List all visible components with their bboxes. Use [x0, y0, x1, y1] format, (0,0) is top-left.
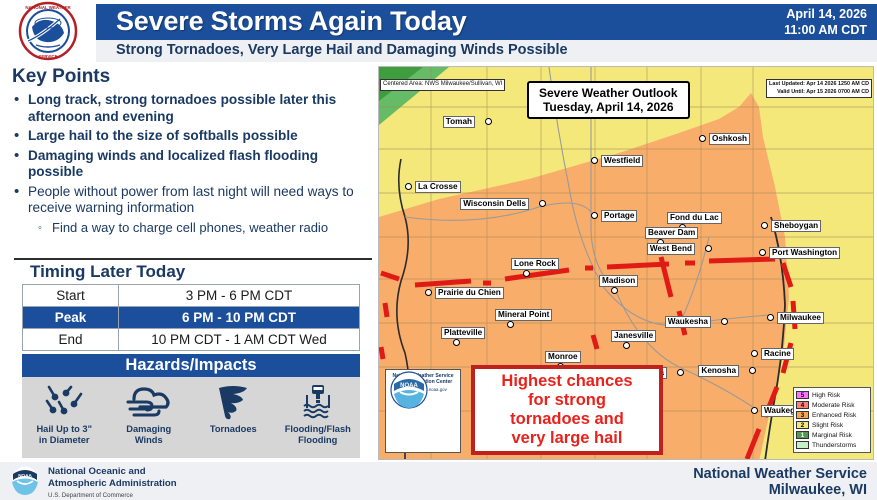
- city-label: Mineral Point: [495, 309, 552, 321]
- noaa-line2: Atmospheric Administration: [48, 478, 177, 490]
- map-update-info: Last Updated: Apr 14 2026 1250 AM CD Val…: [766, 79, 872, 98]
- city-dot-icon: [453, 339, 460, 346]
- hazard-caption-line1: Flooding/Flash: [276, 424, 360, 435]
- table-row: End 10 PM CDT - 1 AM CDT Wed: [23, 329, 360, 351]
- hazard-caption: Tornadoes: [191, 424, 275, 435]
- hazard-caption-line1: Hail Up to 3": [22, 424, 106, 435]
- header-date: April 14, 2026: [784, 6, 867, 22]
- map-last-updated: Last Updated: Apr 14 2026 1250 AM CD: [769, 81, 869, 89]
- list-item: • Damaging winds and localized flash flo…: [14, 148, 374, 181]
- hazard-item-flooding: Flooding/Flash Flooding: [276, 382, 360, 446]
- hazard-caption-line1: Tornadoes: [191, 424, 275, 435]
- legend-swatch: 3: [796, 411, 809, 420]
- legend-row: Thunderstorms: [796, 440, 868, 450]
- weather-briefing-graphic: Severe Storms Again Today April 14, 2026…: [0, 0, 877, 500]
- severe-weather-outlook-map[interactable]: Centered Area: NWS Milwaukee/Sullivan, W…: [378, 66, 874, 460]
- legend-swatch: 4: [796, 401, 809, 410]
- bullet-circle-icon: ◦: [38, 220, 52, 237]
- hazard-caption: Flooding/Flash Flooding: [276, 424, 360, 446]
- city-label: La Crosse: [415, 181, 461, 193]
- city-label: Waukesha: [665, 316, 711, 328]
- page-subtitle: Strong Tornadoes, Very Large Hail and Da…: [116, 42, 568, 58]
- map-title: Severe Weather Outlook Tuesday, April 14…: [527, 81, 690, 119]
- wind-icon: [107, 382, 191, 422]
- city-dot-icon: [677, 369, 684, 376]
- city-label: Madison: [599, 275, 638, 287]
- list-item-text: Long track, strong tornadoes possible la…: [28, 92, 374, 125]
- hazards-list: Hail Up to 3" in Diameter D: [22, 377, 360, 458]
- city-label: Kenosha: [698, 365, 739, 377]
- noaa-logo: NOAA: [8, 466, 42, 497]
- noaa-attribution: National Oceanic and Atmospheric Adminis…: [48, 466, 177, 500]
- legend-swatch: 5: [796, 391, 809, 400]
- list-item-text: Large hail to the size of softballs poss…: [28, 128, 374, 145]
- table-row: Start 3 PM - 6 PM CDT: [23, 285, 360, 307]
- legend-swatch: [796, 441, 809, 450]
- hazard-item-hail: Hail Up to 3" in Diameter: [22, 382, 106, 446]
- city-label: Port Washington: [769, 247, 840, 259]
- city-dot-icon: [751, 407, 758, 414]
- city-label: Sheboygan: [771, 220, 821, 232]
- header-datetime: April 14, 2026 11:00 AM CDT: [784, 6, 867, 38]
- legend-row: 2 Slight Risk: [796, 420, 868, 430]
- header-time: 11:00 AM CDT: [784, 22, 867, 38]
- city-label: Portage: [601, 210, 637, 222]
- city-dot-icon: [591, 157, 598, 164]
- map-title-line2: Tuesday, April 14, 2026: [539, 100, 678, 114]
- map-valid-until: Valid Until: Apr 15 2026 0700 AM CD: [769, 89, 869, 97]
- city-dot-icon: [767, 314, 774, 321]
- legend-label: Enhanced Risk: [812, 412, 856, 419]
- city-dot-icon: [705, 245, 712, 252]
- map-callout-text: Highest chances for strong tornadoes and…: [501, 372, 632, 448]
- hazard-caption-line2: Flooding: [276, 435, 360, 446]
- city-dot-icon: [539, 200, 546, 207]
- nws-office-line2: Milwaukee, WI: [693, 482, 867, 498]
- city-label: Prairie du Chien: [435, 287, 504, 299]
- city-dot-icon: [759, 249, 766, 256]
- bullet-dot-icon: •: [14, 128, 28, 145]
- list-item-sub: ◦ Find a way to charge cell phones, weat…: [38, 220, 374, 237]
- city-label: Tomah: [443, 116, 475, 128]
- city-label: Platteville: [441, 327, 485, 339]
- city-dot-icon: [699, 135, 706, 142]
- legend-swatch: 1: [796, 431, 809, 440]
- city-label: Beaver Dam: [645, 227, 698, 239]
- tornado-icon: [191, 382, 275, 422]
- divider: [14, 258, 372, 260]
- legend-label: Moderate Risk: [812, 402, 855, 409]
- timing-label: End: [23, 329, 119, 351]
- header: Severe Storms Again Today April 14, 2026…: [0, 0, 877, 62]
- city-label: Oshkosh: [709, 133, 750, 145]
- city-label: Fond du Lac: [667, 212, 722, 224]
- legend-label: Thunderstorms: [812, 442, 856, 449]
- hazard-item-wind: Damaging Winds: [107, 382, 191, 446]
- list-item-text: Find a way to charge cell phones, weathe…: [52, 220, 374, 237]
- city-label: Wisconsin Dells: [460, 198, 529, 210]
- city-label: Racine: [761, 348, 794, 360]
- legend-label: Slight Risk: [812, 422, 843, 429]
- city-dot-icon: [507, 321, 514, 328]
- svg-text:NOAA: NOAA: [18, 473, 32, 478]
- nws-office-attribution: National Weather Service Milwaukee, WI: [693, 466, 867, 498]
- city-dot-icon: [749, 367, 756, 374]
- svg-text:SERVICE: SERVICE: [38, 54, 57, 59]
- table-row: Peak 6 PM - 10 PM CDT: [23, 307, 360, 329]
- bullet-dot-icon: •: [14, 92, 28, 125]
- noaa-logo-icon: NOAA: [386, 370, 432, 414]
- hazard-caption-line2: Winds: [107, 435, 191, 446]
- header-bar: Severe Storms Again Today April 14, 2026…: [96, 4, 877, 40]
- subtitle-bar: Strong Tornadoes, Very Large Hail and Da…: [96, 40, 877, 62]
- hazards-impacts-section: Hazards/Impacts: [22, 354, 360, 458]
- city-dot-icon: [485, 118, 492, 125]
- nws-office-line1: National Weather Service: [693, 466, 867, 482]
- key-points-list: • Long track, strong tornadoes possible …: [14, 92, 374, 239]
- city-dot-icon: [751, 350, 758, 357]
- callout-line-1: Highest chances: [501, 372, 632, 391]
- noaa-department-line: U.S. Department of Commerce: [48, 490, 177, 500]
- list-item-text: People without power from last night wil…: [28, 184, 374, 217]
- list-item: • People without power from last night w…: [14, 184, 374, 217]
- callout-line-3: tornadoes and: [501, 410, 632, 429]
- list-item: • Large hail to the size of softballs po…: [14, 128, 374, 145]
- legend-row: 3 Enhanced Risk: [796, 410, 868, 420]
- timing-title: Timing Later Today: [30, 262, 185, 282]
- hazard-item-tornado: Tornadoes: [191, 382, 275, 435]
- hazard-caption-line1: Damaging: [107, 424, 191, 435]
- hail-icon: [22, 382, 106, 422]
- callout-line-4: very large hail: [501, 429, 632, 448]
- svg-text:NOAA: NOAA: [400, 383, 418, 389]
- hazard-caption: Hail Up to 3" in Diameter: [22, 424, 106, 446]
- callout-line-2: for strong: [501, 391, 632, 410]
- left-panel: Key Points • Long track, strong tornadoe…: [0, 62, 378, 462]
- city-dot-icon: [523, 270, 530, 277]
- city-label: Janesville: [611, 330, 656, 342]
- timing-value: 3 PM - 6 PM CDT: [119, 285, 360, 307]
- legend-row: 4 Moderate Risk: [796, 400, 868, 410]
- map-centered-area-label: Centered Area: NWS Milwaukee/Sullivan, W…: [380, 79, 505, 91]
- timing-value: 10 PM CDT - 1 AM CDT Wed: [119, 329, 360, 351]
- national-weather-service-logo: NATIONAL WEATHER SERVICE: [2, 1, 94, 61]
- bullet-dot-icon: •: [14, 148, 28, 181]
- map-callout-box: Highest chances for strong tornadoes and…: [471, 365, 663, 455]
- city-label: Monroe: [545, 351, 581, 363]
- city-label: Milwaukee: [777, 312, 824, 324]
- city-label: West Bend: [647, 243, 695, 255]
- timing-value: 6 PM - 10 PM CDT: [119, 307, 360, 329]
- page-title: Severe Storms Again Today: [116, 6, 467, 37]
- legend-swatch: 2: [796, 421, 809, 430]
- hazard-caption: Damaging Winds: [107, 424, 191, 446]
- city-label: Lone Rock: [511, 258, 559, 270]
- timing-label: Peak: [23, 307, 119, 329]
- timing-table: Start 3 PM - 6 PM CDT Peak 6 PM - 10 PM …: [22, 284, 360, 351]
- city-dot-icon: [591, 212, 598, 219]
- city-dot-icon: [623, 342, 630, 349]
- list-item: • Long track, strong tornadoes possible …: [14, 92, 374, 125]
- legend-row: 5 High Risk: [796, 390, 868, 400]
- legend-label: High Risk: [812, 392, 840, 399]
- city-label: Westfield: [601, 155, 643, 167]
- footer: NOAA National Oceanic and Atmospheric Ad…: [0, 462, 877, 500]
- risk-legend: 5 High Risk 4 Moderate Risk 3 Enhanced R…: [793, 387, 871, 453]
- legend-label: Marginal Risk: [812, 432, 852, 439]
- legend-row: 1 Marginal Risk: [796, 430, 868, 440]
- city-dot-icon: [761, 222, 768, 229]
- hazard-caption-line2: in Diameter: [22, 435, 106, 446]
- bullet-dot-icon: •: [14, 184, 28, 217]
- city-dot-icon: [721, 318, 728, 325]
- storm-prediction-center-logo-box: NOAA National Weather Service Storm Pred…: [385, 369, 461, 453]
- city-dot-icon: [611, 287, 618, 294]
- key-points-title: Key Points: [12, 66, 110, 88]
- svg-text:NATIONAL WEATHER: NATIONAL WEATHER: [25, 5, 71, 10]
- city-dot-icon: [405, 183, 412, 190]
- noaa-line1: National Oceanic and: [48, 466, 177, 478]
- flooding-icon: [276, 382, 360, 422]
- map-title-line1: Severe Weather Outlook: [539, 86, 678, 100]
- timing-label: Start: [23, 285, 119, 307]
- city-dot-icon: [425, 289, 432, 296]
- hazards-title: Hazards/Impacts: [22, 354, 360, 377]
- list-item-text: Damaging winds and localized flash flood…: [28, 148, 374, 181]
